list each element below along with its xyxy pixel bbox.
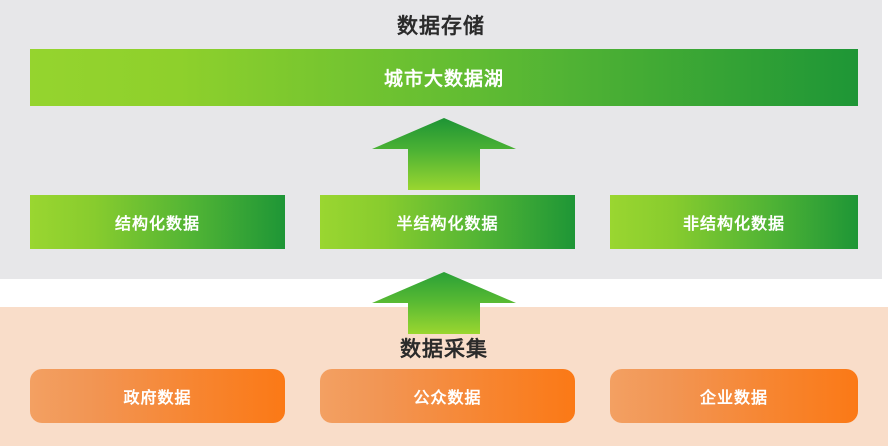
category-box-semi-structured[interactable]: 半结构化数据	[320, 195, 575, 249]
collection-section-title: 数据采集	[0, 333, 888, 363]
category-box-unstructured[interactable]: 非结构化数据	[610, 195, 858, 249]
source-label-public: 公众数据	[413, 384, 481, 408]
category-box-structured[interactable]: 结构化数据	[30, 195, 285, 249]
diagram-canvas: 数据存储 城市大数据湖 结构化数据 半结构化数据 非结构化数据	[0, 0, 888, 446]
source-box-public[interactable]: 公众数据	[320, 369, 575, 423]
arrow-categories-to-lake-icon	[370, 118, 518, 190]
source-label-enterprise: 企业数据	[700, 384, 768, 408]
storage-section-title: 数据存储	[0, 10, 882, 40]
source-box-government[interactable]: 政府数据	[30, 369, 285, 423]
city-big-data-lake-label: 城市大数据湖	[384, 64, 504, 91]
category-label-semi-structured: 半结构化数据	[396, 210, 498, 234]
category-label-structured: 结构化数据	[115, 210, 200, 234]
arrow-collection-to-categories-icon	[370, 272, 518, 334]
city-big-data-lake-banner[interactable]: 城市大数据湖	[30, 49, 858, 106]
source-box-enterprise[interactable]: 企业数据	[610, 369, 858, 423]
category-label-unstructured: 非结构化数据	[683, 210, 785, 234]
source-label-government: 政府数据	[123, 384, 191, 408]
